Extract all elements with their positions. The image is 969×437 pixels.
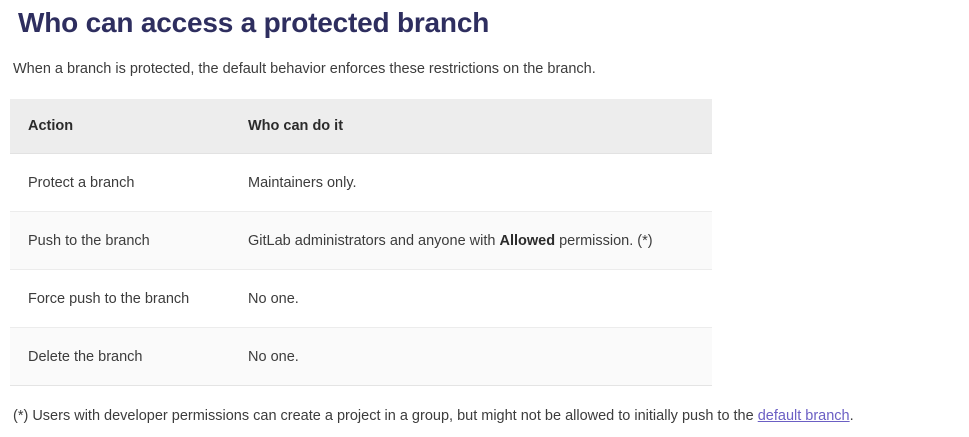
table-row: Force push to the branch No one.	[10, 270, 712, 328]
table-row: Protect a branch Maintainers only.	[10, 154, 712, 212]
default-branch-link[interactable]: default branch	[758, 408, 850, 424]
who-text-prefix: Maintainers only.	[248, 175, 357, 191]
footnote-text: (*) Users with developer permissions can…	[13, 408, 758, 424]
who-text-prefix: No one.	[248, 349, 299, 365]
intro-paragraph: When a branch is protected, the default …	[10, 40, 959, 79]
cell-who-can-do-it: No one.	[238, 328, 712, 386]
table-body: Protect a branch Maintainers only. Push …	[10, 154, 712, 386]
cell-action: Protect a branch	[10, 154, 238, 212]
footnote: (*) Users with developer permissions can…	[13, 406, 854, 426]
table-header-row: Action Who can do it	[10, 99, 712, 154]
cell-who-can-do-it: No one.	[238, 270, 712, 328]
table-header: Action Who can do it	[10, 99, 712, 154]
who-text-suffix: permission. (*)	[555, 233, 653, 249]
cell-action: Force push to the branch	[10, 270, 238, 328]
page-title: Who can access a protected branch	[10, 0, 959, 40]
table-row: Delete the branch No one.	[10, 328, 712, 386]
cell-action: Push to the branch	[10, 212, 238, 270]
column-header-action: Action	[10, 99, 238, 154]
footnote-suffix: .	[850, 408, 854, 424]
who-text-prefix: GitLab administrators and anyone with	[248, 233, 499, 249]
cell-action: Delete the branch	[10, 328, 238, 386]
who-text-emphasis: Allowed	[499, 233, 555, 249]
protected-branch-access-table: Action Who can do it Protect a branch Ma…	[10, 99, 712, 386]
table-row: Push to the branch GitLab administrators…	[10, 212, 712, 270]
column-header-who-can-do-it: Who can do it	[238, 99, 712, 154]
cell-who-can-do-it: GitLab administrators and anyone with Al…	[238, 212, 712, 270]
who-text-prefix: No one.	[248, 291, 299, 307]
cell-who-can-do-it: Maintainers only.	[238, 154, 712, 212]
documentation-page: Who can access a protected branch When a…	[0, 0, 969, 437]
